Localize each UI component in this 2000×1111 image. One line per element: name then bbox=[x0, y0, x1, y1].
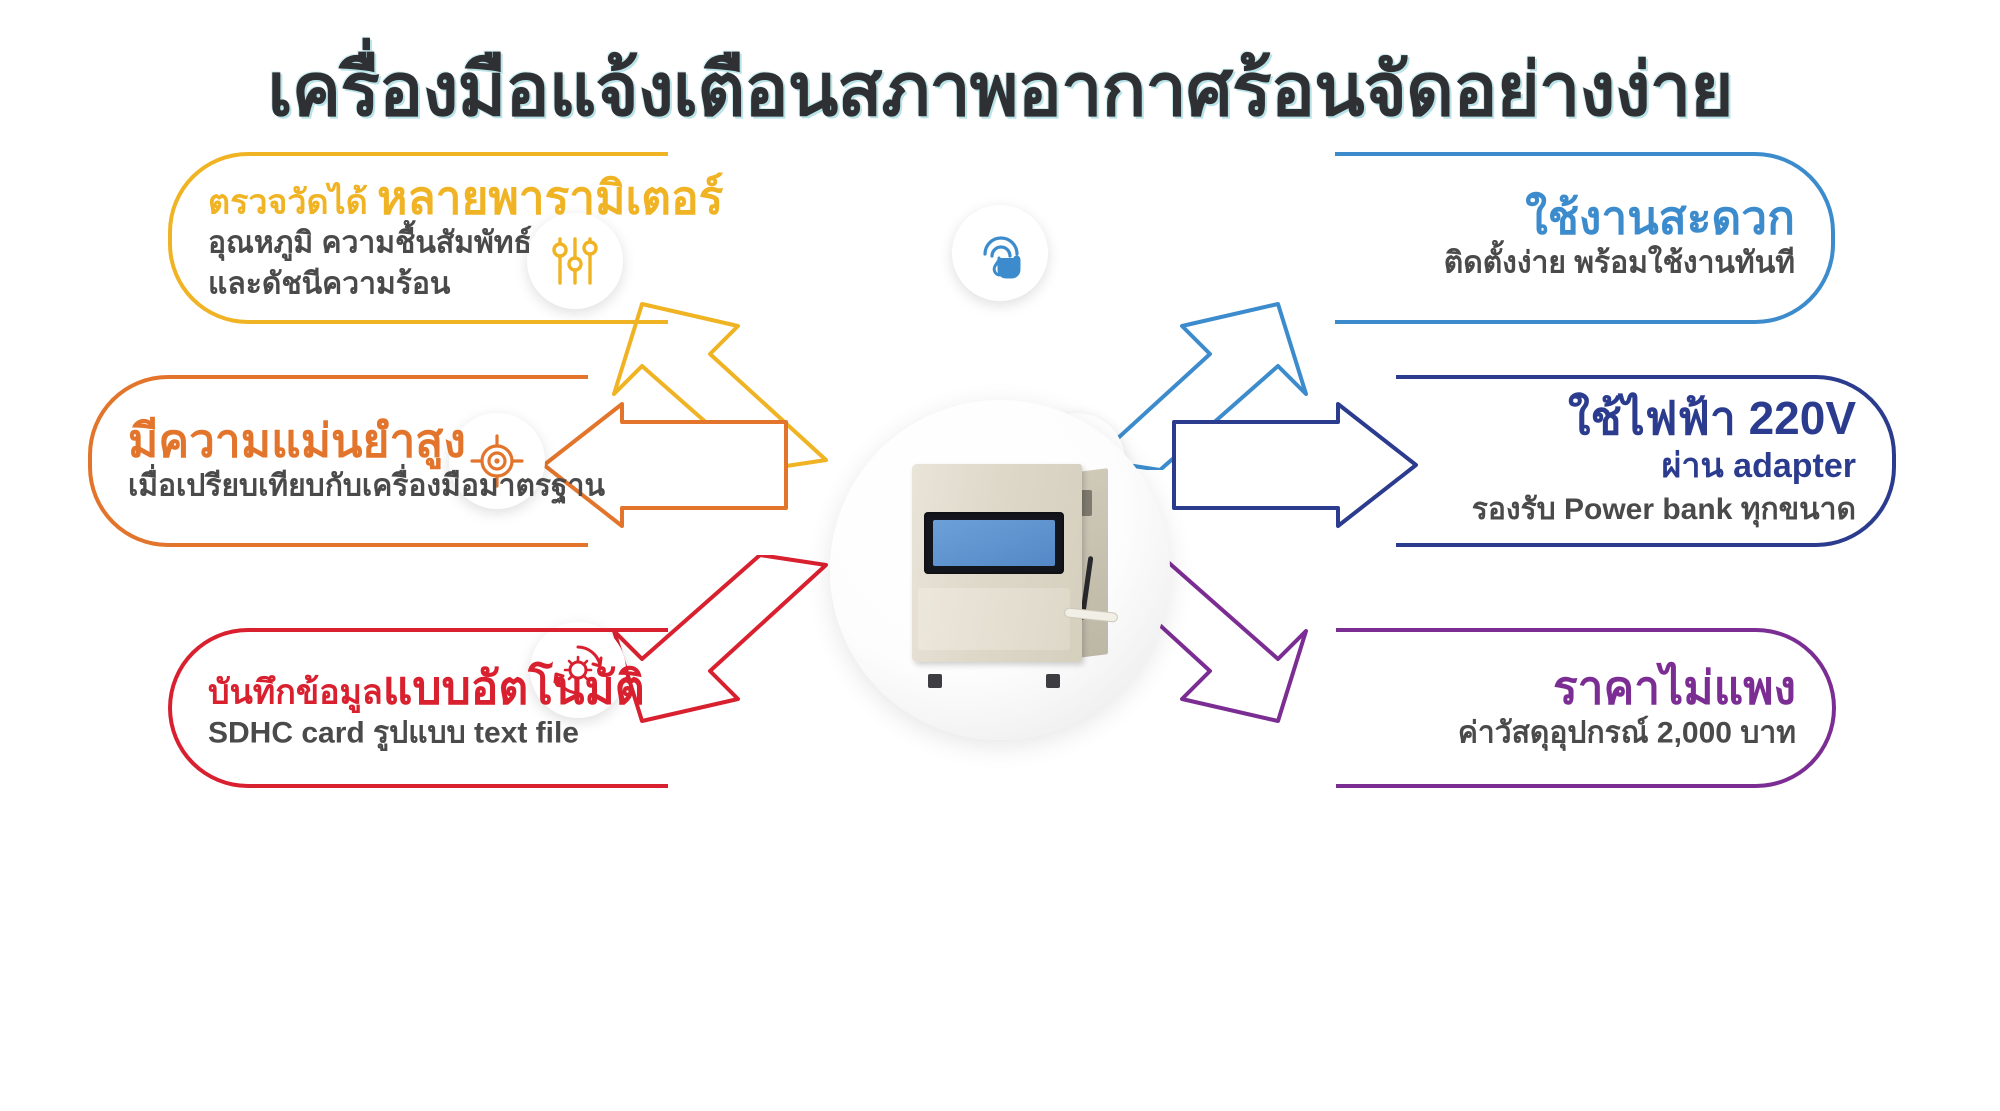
card-headline-lead: ตรวจวัดได้ bbox=[208, 183, 377, 221]
card-headline-strong: แบบอัตโนมัติ bbox=[383, 662, 645, 714]
card-sub-line1: ติดตั้งง่าย พร้อมใช้งานทันที bbox=[1361, 246, 1795, 283]
device-foot-right bbox=[1046, 674, 1060, 688]
device-photo bbox=[830, 400, 1170, 740]
card-sub-line1: เมื่อเปรียบเทียบกับเครื่องมือมาตรฐาน bbox=[128, 469, 562, 506]
feature-card-logging[interactable]: บันทึกข้อมูลแบบอัตโนมัติ SDHC card รูปแบ… bbox=[168, 628, 668, 788]
card-sub-line1: ค่าวัสดุอุปกรณ์ 2,000 บาท bbox=[1362, 716, 1796, 753]
card-headline: ใช้งานสะดวก bbox=[1361, 194, 1795, 242]
card-sub-line1: SDHC card รูปแบบ text file bbox=[208, 716, 642, 753]
card-headline: ใช้ไฟฟ้า 220V bbox=[1422, 394, 1856, 442]
card-headline: ราคาไม่แพง bbox=[1362, 664, 1796, 712]
device-lower-panel bbox=[918, 588, 1070, 650]
card-headline-strong: หลายพารามิเตอร์ bbox=[377, 171, 723, 223]
arrow-right bbox=[1170, 400, 1420, 530]
touch-finger-icon bbox=[952, 205, 1048, 301]
device-illustration bbox=[878, 460, 1128, 680]
page-title: เครื่องมือแจ้งเตือนสภาพอากาศร้อนจัดอย่าง… bbox=[0, 30, 2000, 148]
card-headline-strong: ราคาไม่แพง bbox=[1553, 662, 1796, 714]
feature-card-price[interactable]: ราคาไม่แพง ค่าวัสดุอุปกรณ์ 2,000 บาท bbox=[1336, 628, 1836, 788]
card-sub-line1: อุณหภูมิ ความชื้นสัมพัทธ์ bbox=[208, 226, 642, 263]
card-sub-line2: และดัชนีความร้อน bbox=[208, 266, 642, 303]
device-screen-bezel bbox=[924, 512, 1064, 574]
feature-card-power[interactable]: ใช้ไฟฟ้า 220V ผ่าน adapter รองรับ Power … bbox=[1396, 375, 1896, 547]
card-sub-line2: รองรับ Power bank ทุกขนาด bbox=[1422, 492, 1856, 529]
card-headline-strong: มีความแม่นยำสูง bbox=[128, 415, 466, 467]
infographic-canvas: เครื่องมือแจ้งเตือนสภาพอากาศร้อนจัดอย่าง… bbox=[0, 0, 2000, 1111]
feature-card-easy[interactable]: ใช้งานสะดวก ติดตั้งง่าย พร้อมใช้งานทันที bbox=[1335, 152, 1835, 324]
card-sub-line1: ผ่าน adapter bbox=[1422, 446, 1856, 487]
card-headline-strong: ใช้งานสะดวก bbox=[1525, 192, 1795, 244]
card-headline: ตรวจวัดได้ หลายพารามิเตอร์ bbox=[208, 173, 642, 221]
device-foot-left bbox=[928, 674, 942, 688]
card-headline-lead: บันทึกข้อมูล bbox=[208, 674, 383, 712]
card-headline-strong: ใช้ไฟฟ้า 220V bbox=[1568, 392, 1856, 444]
card-headline: บันทึกข้อมูลแบบอัตโนมัติ bbox=[208, 664, 642, 712]
feature-card-params[interactable]: ตรวจวัดได้ หลายพารามิเตอร์ อุณหภูมิ ความ… bbox=[168, 152, 668, 324]
feature-card-accuracy[interactable]: มีความแม่นยำสูง เมื่อเปรียบเทียบกับเครื่… bbox=[88, 375, 588, 547]
card-headline: มีความแม่นยำสูง bbox=[128, 417, 562, 465]
device-lcd-screen bbox=[933, 520, 1055, 566]
